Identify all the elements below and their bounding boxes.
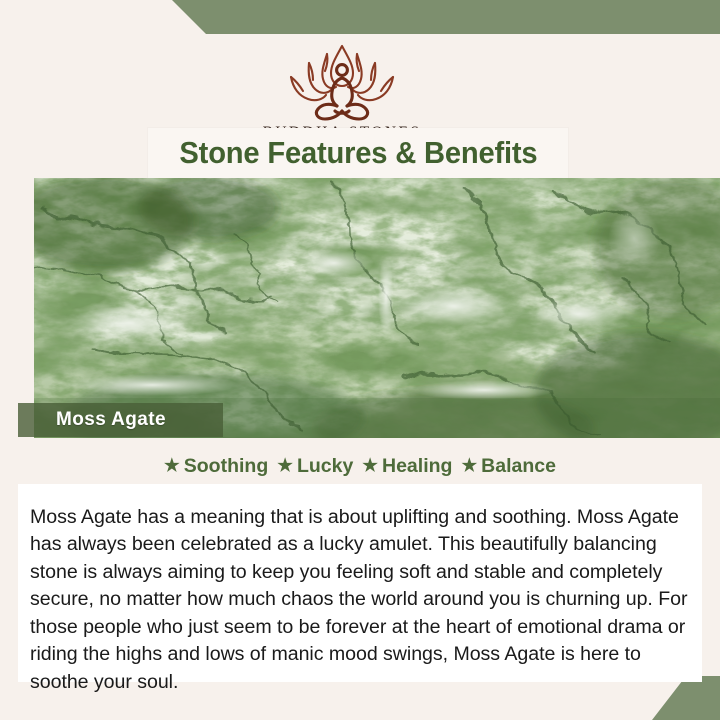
benefit-item: ★ Lucky [277, 455, 353, 478]
stone-photo [34, 178, 720, 438]
star-icon: ★ [461, 457, 477, 475]
benefit-label: Balance [481, 455, 556, 478]
stone-info-poster: BUDDHA STONES Stone Features & Benefits [0, 0, 720, 720]
star-icon: ★ [277, 457, 293, 475]
benefit-item: ★ Healing [362, 455, 452, 478]
stone-name: Moss Agate [18, 409, 166, 431]
moss-agate-image [34, 178, 720, 438]
benefits-row: ★ Soothing ★ Lucky ★ Healing ★ Balance [34, 450, 686, 482]
star-icon: ★ [362, 457, 378, 475]
description-text: Moss Agate has a meaning that is about u… [30, 504, 694, 697]
title-banner: Stone Features & Benefits [148, 128, 568, 178]
description-card: Moss Agate has a meaning that is about u… [18, 484, 702, 682]
benefit-label: Lucky [297, 455, 353, 478]
lotus-meditation-figure-icon [267, 40, 417, 122]
stone-name-tag: Moss Agate [18, 403, 223, 437]
brand-logo: BUDDHA STONES [0, 34, 684, 142]
star-icon: ★ [164, 457, 180, 475]
benefit-item: ★ Soothing [164, 455, 268, 478]
benefit-item: ★ Balance [461, 455, 556, 478]
benefit-label: Soothing [184, 455, 268, 478]
benefit-label: Healing [382, 455, 452, 478]
page-title: Stone Features & Benefits [179, 135, 537, 171]
